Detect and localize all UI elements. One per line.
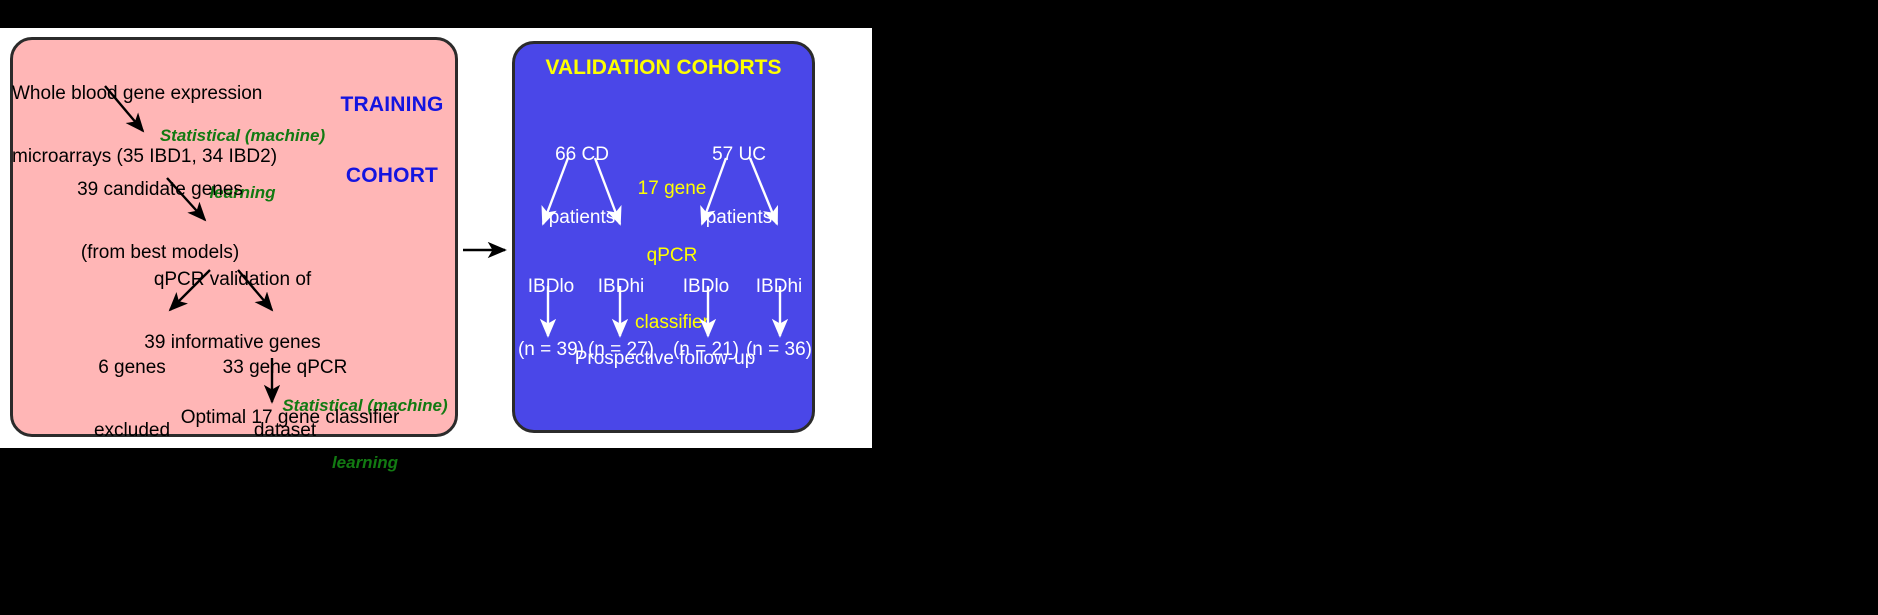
node-qpcr-validation-line-1: qPCR validation of	[125, 269, 340, 290]
training-title-line-2: COHORT	[330, 164, 454, 188]
node-optimal-classifier: Optimal 17 gene classifier	[140, 407, 440, 428]
label-statistical-learning-2-line-2: learning	[270, 453, 460, 472]
node-cd-patients-line-1: 66 CD	[527, 144, 637, 165]
node-cd-ibdhi: IBDhi (n = 27)	[578, 233, 664, 403]
node-uc-ibdhi-label: IBDhi	[736, 276, 822, 297]
label-statistical-learning-2: Statistical (machine) learning	[270, 358, 460, 510]
node-genes-excluded-line-1: 6 genes	[72, 357, 192, 378]
validation-cohorts-title: VALIDATION COHORTS	[512, 56, 815, 80]
training-cohort-title: TRAINING COHORT	[330, 46, 454, 234]
node-prospective-followup: Prospective follow-up	[540, 348, 790, 369]
node-uc-ibdhi: IBDhi (n = 36)	[736, 233, 822, 403]
node-cd-ibdhi-label: IBDhi	[578, 276, 664, 297]
node-candidate-genes-line-1: 39 candidate genes	[50, 179, 270, 200]
node-cd-patients-line-2: patients	[527, 207, 637, 228]
diagram-canvas: TRAINING COHORT Whole blood gene express…	[0, 28, 872, 448]
training-title-line-1: TRAINING	[330, 93, 454, 117]
label-qpcr-classifier-line-1: 17 gene	[627, 178, 717, 200]
node-genes-excluded: 6 genes excluded	[72, 314, 192, 484]
